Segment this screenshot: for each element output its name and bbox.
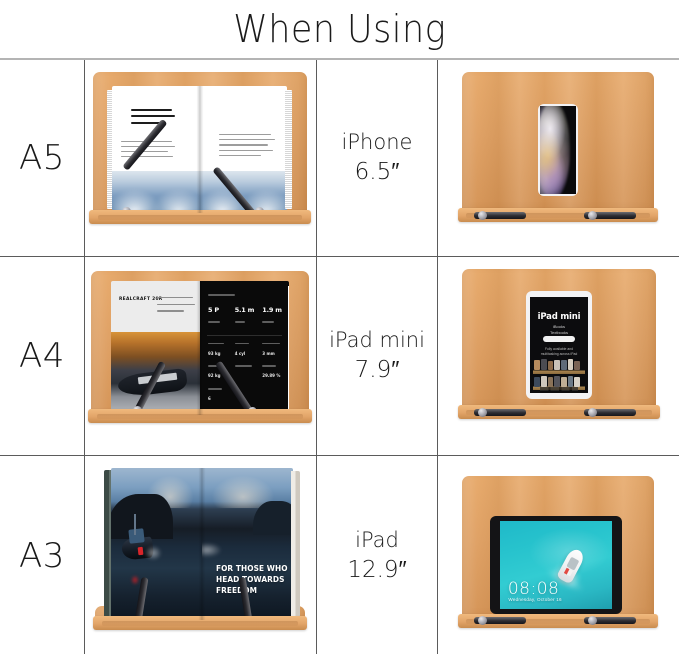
- book-cover-thumb: [541, 376, 547, 386]
- book-page-left: [112, 86, 200, 213]
- screen-bookshelf-row: [533, 357, 584, 373]
- catalog-blurb-line: [157, 304, 194, 305]
- device-name: iPad: [355, 528, 399, 552]
- catalog-page-edge: [288, 286, 289, 409]
- paper-size-label: A3: [19, 536, 65, 576]
- screen-subtitle: iBooksTextbooks: [530, 324, 588, 336]
- device-label: iPad mini 7.9″: [329, 327, 425, 385]
- book-cover-thumb: [554, 376, 560, 387]
- book-headline-text: FOR THOSE WHOHEAD TOWARDSFREEDOM: [216, 563, 288, 596]
- device-label: iPad 12.9″: [347, 527, 406, 585]
- a5-book-scene: [85, 60, 316, 256]
- catalog-blurb-line: [157, 310, 184, 311]
- ipad-device: 08:08 Wednesday, October 16: [490, 516, 622, 614]
- book-cover-right: [291, 471, 300, 617]
- spec-caption-line: [235, 321, 246, 322]
- catalog-page-left: REALCRAFT 20R: [111, 281, 200, 415]
- screen-dock-bar: [540, 387, 577, 391]
- book-page-right: [200, 86, 288, 213]
- table-row: A3: [0, 456, 679, 654]
- device-size: 6.5″: [342, 157, 413, 187]
- page-title: When Using: [233, 10, 446, 48]
- spec-caption-line: [208, 343, 224, 344]
- device-photo-cell-ipad: 08:08 Wednesday, October 16: [438, 456, 679, 654]
- device-size: 12.9″: [347, 555, 406, 585]
- spec-value: 4 cyl: [235, 351, 246, 356]
- page-body-line: [219, 155, 261, 156]
- spec-caption-line: [235, 365, 252, 366]
- paper-size-cell-a3: A3: [0, 456, 85, 654]
- product-size-comparison-page: When Using A5: [0, 0, 679, 654]
- water-spray: [144, 544, 168, 562]
- page-edge-stack: [285, 90, 292, 209]
- iphone-device: [538, 104, 578, 196]
- spec-value: 1.9 m: [262, 306, 282, 314]
- screen-cta-pill: [543, 336, 576, 342]
- water-spray: [202, 541, 231, 559]
- book-cover-thumb: [568, 376, 574, 386]
- screen-title: iPad mini: [530, 312, 588, 322]
- ipad-stand-scene: 08:08 Wednesday, October 16: [438, 456, 679, 654]
- device-clip-right-knob: [588, 616, 597, 625]
- catalog-blurb-line: [157, 297, 193, 298]
- book-cover-thumb: [548, 361, 554, 370]
- book-cover-thumb: [561, 360, 567, 370]
- device-clip-right-knob: [588, 408, 597, 417]
- spec-value: 92 kg: [208, 373, 220, 378]
- device-clip-left-knob: [478, 211, 487, 220]
- photo-dusk-scene: [111, 468, 202, 620]
- page-heading-line: [131, 115, 175, 117]
- device-clip-left-knob: [478, 408, 487, 417]
- device-size: 7.9″: [329, 355, 425, 385]
- spec-caption-line: [262, 343, 280, 344]
- paper-size-cell-a5: A5: [0, 60, 85, 256]
- spec-caption-line: [208, 294, 235, 295]
- paper-size-label: A5: [19, 138, 65, 178]
- book-cover-thumb: [561, 377, 567, 387]
- catalog-page-right-specs: 5 P 5.1 m 1.9 m 93 kg 4 cyl: [200, 281, 289, 415]
- book-cover-thumb: [534, 360, 540, 370]
- spec-value: 5 P: [208, 306, 219, 314]
- screen-note: Fully available andmultitasking across i…: [530, 347, 588, 357]
- ipad-screen: 08:08 Wednesday, October 16: [500, 521, 612, 609]
- a4-book-scene: REALCRAFT 20R 5 P 5.1: [85, 257, 316, 455]
- book-cover-thumb: [568, 359, 574, 370]
- comparison-grid: A5: [0, 58, 679, 654]
- spec-caption-line: [208, 321, 220, 322]
- open-catalog-a4: REALCRAFT 20R 5 P 5.1: [111, 281, 289, 415]
- page-title-bar: When Using: [0, 0, 679, 58]
- iphone-stand-scene: [438, 60, 679, 256]
- device-label: iPhone 6.5″: [342, 129, 413, 187]
- spec-caption-line: [262, 365, 275, 366]
- page-body-line: [219, 150, 273, 151]
- photo-page-left: [111, 468, 202, 620]
- spec-value: 29.89 %: [262, 373, 280, 378]
- bamboo-stand-lip: [88, 409, 312, 423]
- lock-screen-date: Wednesday, October 16: [508, 597, 561, 602]
- device-name-cell-ipad-mini: iPad mini 7.9″: [317, 257, 438, 455]
- book-cover-thumb: [541, 359, 547, 370]
- book-cover-thumb: [534, 377, 540, 387]
- device-name-cell-iphone: iPhone 6.5″: [317, 60, 438, 256]
- device-name: iPhone: [342, 130, 413, 154]
- table-row: A4 REALCRAFT 20R: [0, 257, 679, 456]
- boat-mast: [134, 514, 135, 535]
- page-body-line: [219, 139, 275, 140]
- spec-divider: [207, 335, 282, 336]
- ipad-mini-stand-scene: iPad mini iBooksTextbooks Fully availabl…: [438, 257, 679, 455]
- mountain-ridge: [253, 501, 293, 534]
- spec-value: 5.1 m: [235, 306, 255, 314]
- page-heading-line: [131, 109, 171, 111]
- ipad-mini-screen: iPad mini iBooksTextbooks Fully availabl…: [530, 297, 588, 393]
- device-clip-right-knob: [588, 211, 597, 220]
- device-name: iPad mini: [329, 328, 425, 352]
- book-photo-cell-a3: FOR THOSE WHOHEAD TOWARDSFREEDOM: [85, 456, 317, 654]
- table-row: A5: [0, 60, 679, 257]
- paper-size-label: A4: [19, 336, 65, 376]
- spec-caption-line: [235, 343, 249, 344]
- book-photo-cell-a4: REALCRAFT 20R 5 P 5.1: [85, 257, 317, 455]
- lock-screen-time: 08:08: [508, 581, 560, 598]
- page-body-line: [121, 151, 168, 152]
- device-clip-left-knob: [478, 616, 487, 625]
- ipad-mini-device: iPad mini iBooksTextbooks Fully availabl…: [526, 291, 592, 399]
- paper-size-cell-a4: A4: [0, 257, 85, 455]
- book-cover-thumb: [574, 361, 580, 370]
- device-photo-cell-iphone: [438, 60, 679, 256]
- book-photo-cell-a5: [85, 60, 317, 256]
- catalog-brand-text: REALCRAFT 20R: [119, 297, 163, 302]
- bamboo-stand-lip: [93, 616, 307, 630]
- page-body-line: [219, 134, 272, 135]
- device-name-cell-ipad: iPad 12.9″: [317, 456, 438, 654]
- spec-value: 93 kg: [208, 351, 220, 356]
- spec-caption-line: [208, 388, 222, 389]
- book-cover-thumb: [548, 377, 554, 386]
- spec-value: 3 mm: [262, 351, 275, 356]
- spec-value: 6: [208, 396, 211, 401]
- boat-cabin: [129, 528, 145, 543]
- device-photo-cell-ipad-mini: iPad mini iBooksTextbooks Fully availabl…: [438, 257, 679, 455]
- iphone-screen: [540, 106, 576, 194]
- book-cover-thumb: [554, 360, 560, 370]
- page-body-line: [219, 144, 268, 145]
- spec-caption-line: [262, 321, 274, 322]
- bamboo-stand-lip: [89, 210, 311, 224]
- book-cover-thumb: [574, 377, 580, 386]
- a3-book-scene: FOR THOSE WHOHEAD TOWARDSFREEDOM: [85, 456, 316, 654]
